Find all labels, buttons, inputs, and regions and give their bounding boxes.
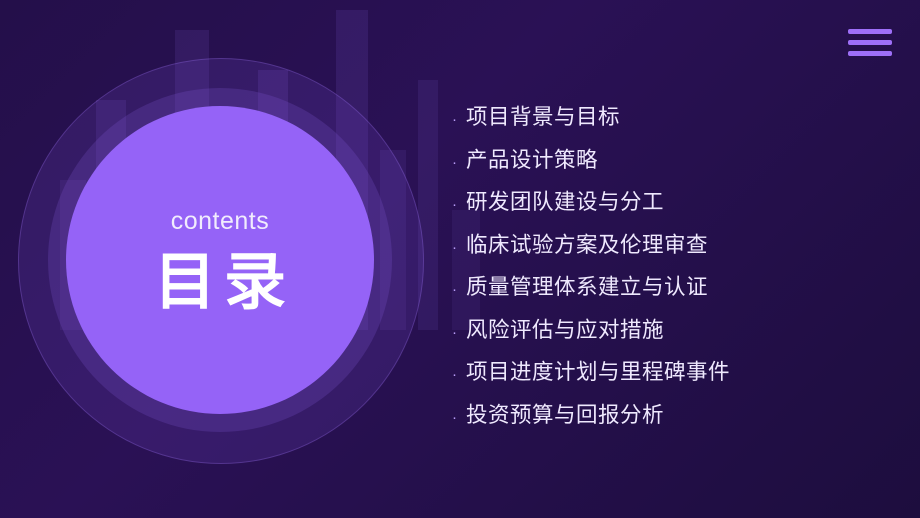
toc-item-label: 项目背景与目标 (466, 100, 620, 131)
hamburger-menu-icon[interactable] (848, 20, 892, 64)
toc-item[interactable]: ·投资预算与回报分析 (452, 398, 892, 429)
bullet-icon: · (452, 112, 457, 127)
hamburger-line-1 (848, 29, 892, 34)
contents-english-title: contents (171, 207, 270, 236)
slide-root: contents 目录 ·项目背景与目标·产品设计策略·研发团队建设与分工·临床… (0, 0, 920, 518)
toc-item-label: 项目进度计划与里程碑事件 (466, 355, 730, 386)
bullet-icon: · (452, 240, 457, 255)
contents-chinese-title: 目录 (146, 252, 294, 314)
toc-item[interactable]: ·产品设计策略 (452, 143, 892, 174)
table-of-contents: ·项目背景与目标·产品设计策略·研发团队建设与分工·临床试验方案及伦理审查·质量… (452, 100, 892, 440)
bullet-icon: · (452, 410, 457, 425)
bullet-icon: · (452, 155, 457, 170)
toc-item[interactable]: ·项目进度计划与里程碑事件 (452, 355, 892, 386)
bullet-icon: · (452, 282, 457, 297)
toc-item[interactable]: ·风险评估与应对措施 (452, 313, 892, 344)
toc-item-label: 风险评估与应对措施 (466, 313, 664, 344)
toc-item[interactable]: ·临床试验方案及伦理审查 (452, 228, 892, 259)
toc-item-label: 临床试验方案及伦理审查 (466, 228, 708, 259)
bullet-icon: · (452, 367, 457, 382)
toc-item[interactable]: ·研发团队建设与分工 (452, 185, 892, 216)
contents-circle: contents 目录 (66, 106, 374, 414)
toc-item[interactable]: ·质量管理体系建立与认证 (452, 270, 892, 301)
hamburger-line-2 (848, 40, 892, 45)
toc-item-label: 投资预算与回报分析 (466, 398, 664, 429)
toc-item-label: 产品设计策略 (466, 143, 598, 174)
bullet-icon: · (452, 197, 457, 212)
toc-item[interactable]: ·项目背景与目标 (452, 100, 892, 131)
bullet-icon: · (452, 325, 457, 340)
toc-item-label: 研发团队建设与分工 (466, 185, 664, 216)
toc-item-label: 质量管理体系建立与认证 (466, 270, 708, 301)
hamburger-line-3 (848, 51, 892, 56)
